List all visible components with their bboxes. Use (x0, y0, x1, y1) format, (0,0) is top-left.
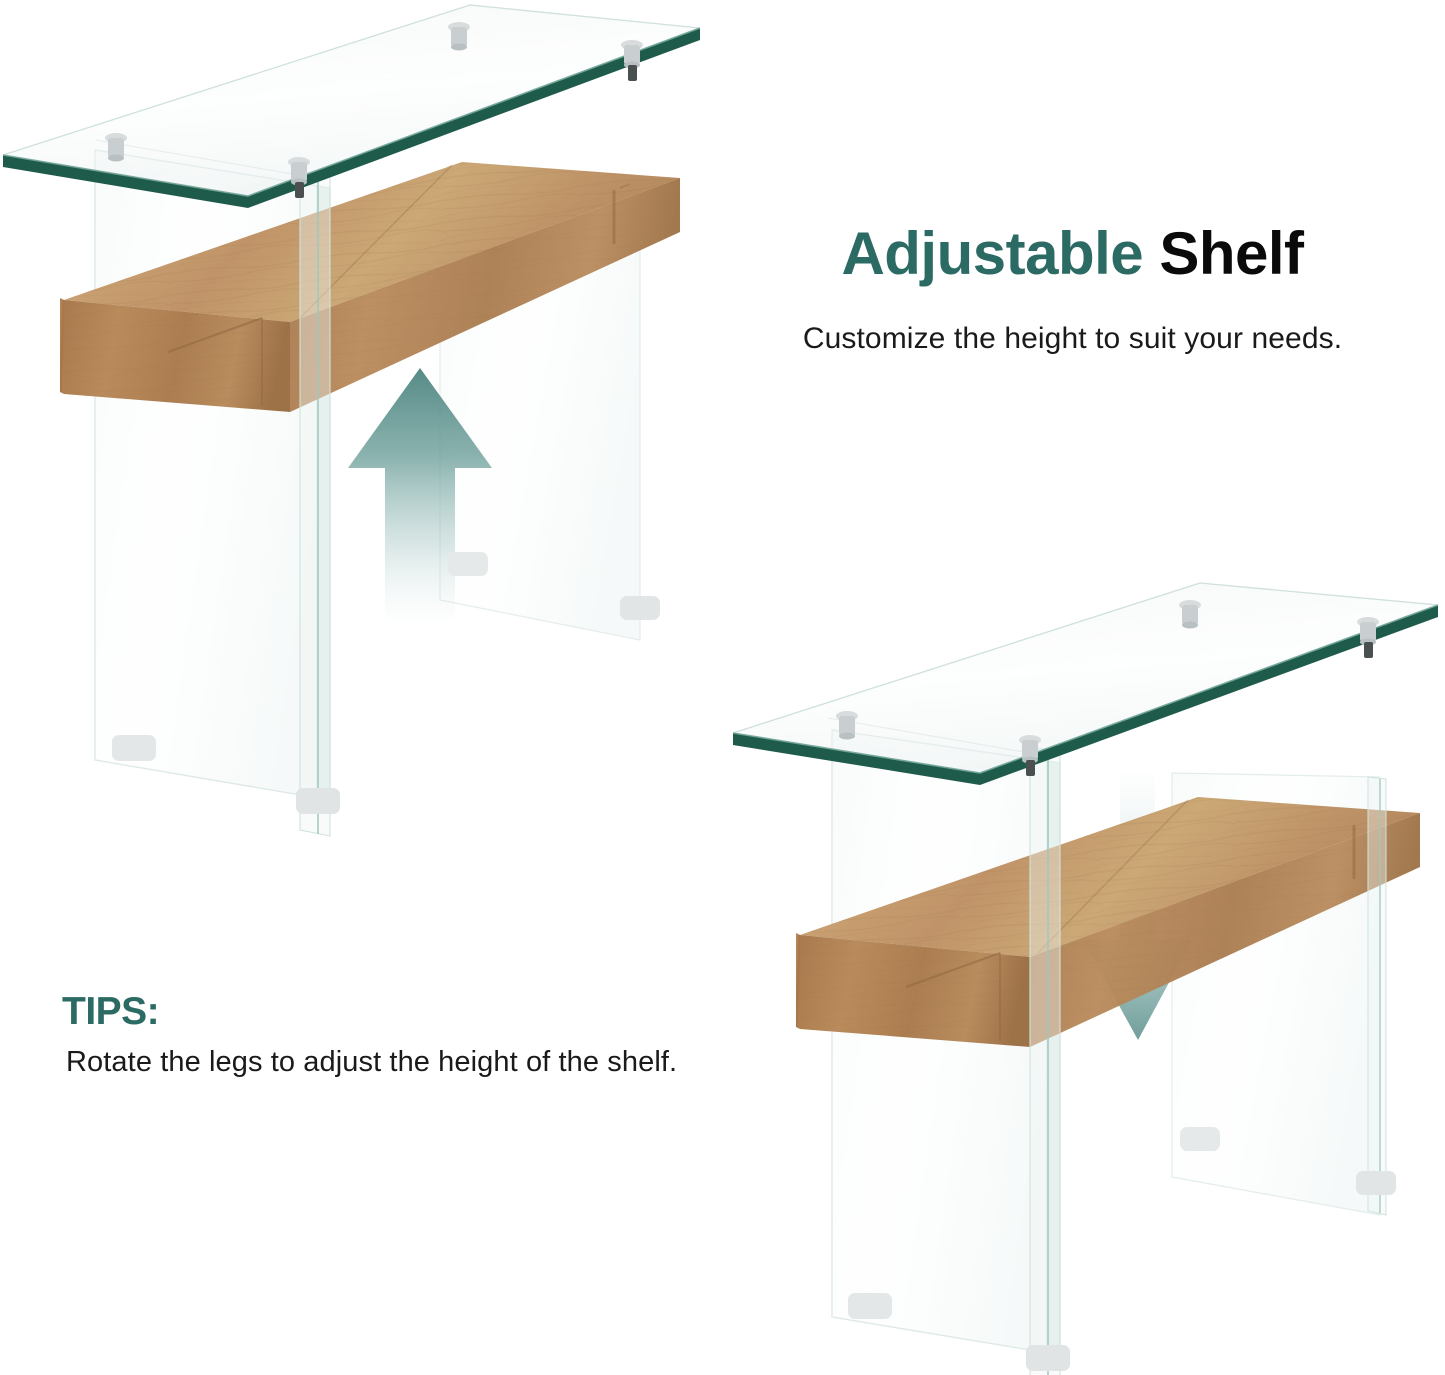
console-table-shelf-raised (0, 0, 700, 880)
bolt-icon (836, 711, 858, 740)
foot-pad (112, 735, 156, 761)
tips-heading: TIPS: (62, 990, 159, 1034)
foot-pad (296, 788, 340, 814)
glass-leg-right-edge (1368, 777, 1386, 1215)
bolt-icon (1179, 600, 1201, 629)
glass-leg-front (1030, 747, 1060, 1375)
foot-pad (1356, 1171, 1396, 1195)
foot-pad (1026, 1345, 1070, 1371)
foot-pad (848, 1293, 892, 1319)
console-table-shelf-lowered (720, 555, 1445, 1375)
headline-emphasis: Shelf (1159, 220, 1303, 287)
foot-pad (1180, 1127, 1220, 1151)
product-feature-graphic: Adjustable Shelf Customize the height to… (0, 0, 1445, 1375)
headline-accent: Adjustable (841, 220, 1143, 287)
glass-leg-front (300, 172, 330, 836)
page-subtitle: Customize the height to suit your needs. (700, 322, 1445, 356)
tips-body-text: Rotate the legs to adjust the height of … (66, 1046, 677, 1079)
foot-pad (448, 552, 488, 576)
bolt-icon (448, 22, 470, 51)
page-title: Adjustable Shelf (700, 222, 1445, 285)
bolt-icon (105, 133, 127, 162)
headline-space (1143, 220, 1159, 287)
foot-pad (620, 596, 660, 620)
bolt-icon (621, 40, 643, 81)
glass-top (733, 583, 1438, 785)
bolt-icon (1357, 617, 1379, 658)
